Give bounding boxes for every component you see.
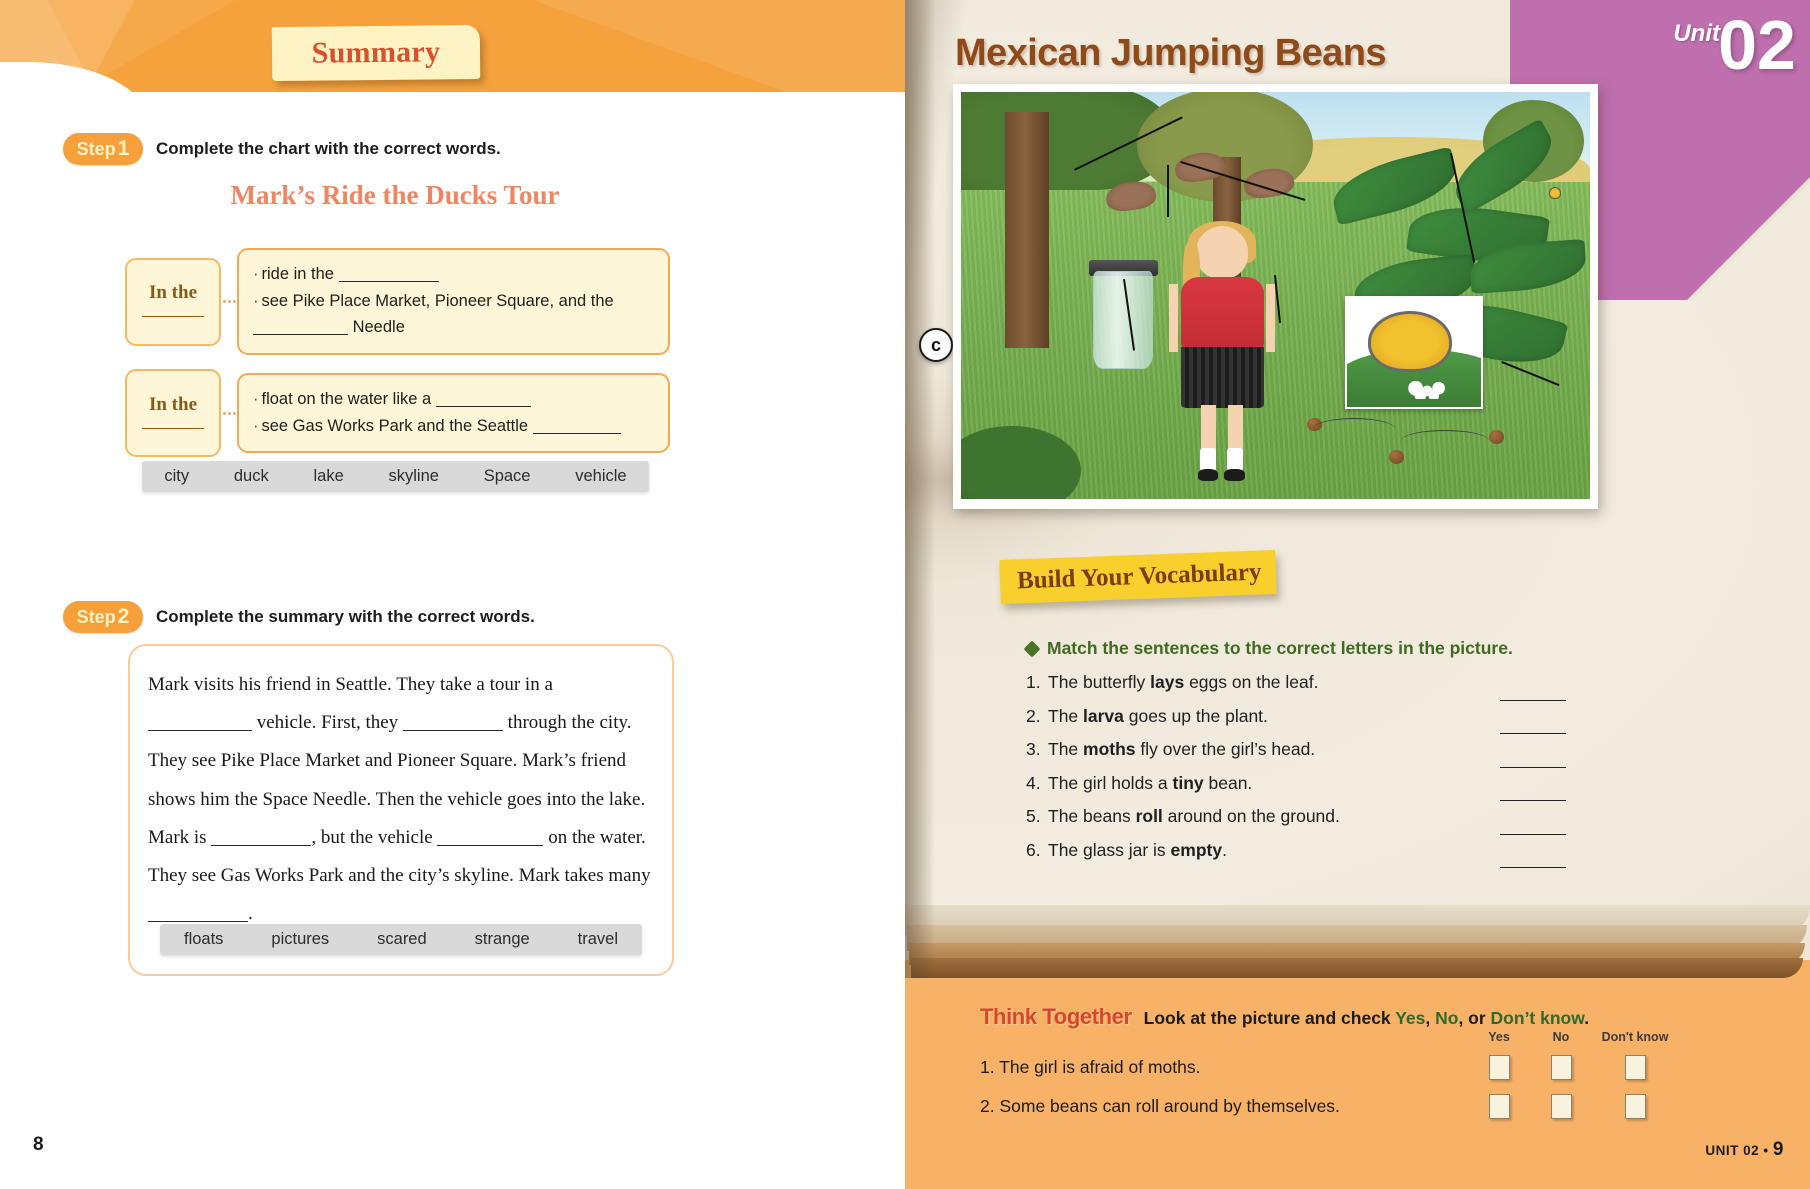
think-together-logo: Think Together	[980, 1004, 1132, 1030]
option-no-label: No	[1435, 1008, 1458, 1028]
left-page-number: 8	[33, 1134, 44, 1156]
tour-chart: In the ·ride in the ·see Pike Place Mark…	[125, 248, 670, 471]
step-2-badge-label: Step	[77, 607, 116, 628]
bullet-icon: ·	[253, 417, 259, 435]
answer-blank[interactable]	[1500, 834, 1566, 835]
eggs-icon	[1406, 381, 1454, 399]
step-1-badge-number: 1	[118, 137, 130, 161]
chart-title: Mark’s Ride the Ducks Tour	[0, 180, 790, 211]
word-bank-word[interactable]: travel	[578, 930, 618, 949]
sentence-text: The beans roll around on the ground.	[1048, 806, 1500, 827]
sentence-keyword: larva	[1083, 706, 1124, 726]
checkbox-cell-dontknow[interactable]	[1592, 1094, 1678, 1119]
footer-dot: •	[1763, 1143, 1768, 1158]
chart-item-text: see Gas Works Park and the Seattle	[262, 417, 533, 435]
chart-bullet-item: ·see Pike Place Market, Pioneer Square, …	[253, 288, 652, 341]
sentence-keyword: tiny	[1173, 773, 1204, 793]
table-row: 1. The girl is afraid of moths.	[980, 1048, 1740, 1087]
step-1-instruction: Complete the chart with the correct word…	[156, 139, 501, 159]
tree-trunk-icon	[1005, 112, 1049, 348]
chart-row-label: In the	[149, 282, 197, 304]
checkbox-no[interactable]	[1551, 1055, 1572, 1080]
sentence-number: 3.	[1026, 739, 1048, 760]
word-bank-word[interactable]: strange	[475, 930, 530, 949]
answer-blank[interactable]	[148, 730, 252, 731]
summary-tab-label: Summary	[311, 35, 440, 70]
word-bank-1: city duck lake skyline Space vehicle	[142, 461, 649, 492]
checkbox-dontknow[interactable]	[1625, 1094, 1646, 1119]
answer-blank[interactable]	[533, 433, 621, 434]
answer-blank[interactable]	[1500, 767, 1566, 768]
sentence-part: The	[1048, 706, 1083, 726]
chart-row-content: ·float on the water like a ·see Gas Work…	[237, 373, 670, 453]
step-2-badge-number: 2	[118, 605, 130, 629]
step-1-row: Step 1 Complete the chart with the corre…	[63, 133, 501, 165]
sentence-part: The	[1048, 739, 1083, 759]
answer-blank[interactable]	[339, 281, 439, 282]
checkbox-dontknow[interactable]	[1625, 1055, 1646, 1080]
sentence-part: bean.	[1204, 773, 1253, 793]
table-row: 2. Some beans can roll around by themsel…	[980, 1087, 1740, 1126]
sentence-part: around on the ground.	[1163, 806, 1340, 826]
chart-bullet-item: ·ride in the	[253, 261, 652, 288]
answer-blank[interactable]	[437, 845, 543, 846]
chart-bullet-item: ·float on the water like a	[253, 386, 652, 413]
left-page: Summary Step 1 Complete the chart with t…	[0, 0, 905, 1189]
checkbox-cell-no[interactable]	[1530, 1094, 1592, 1119]
question-text: 1. The girl is afraid of moths.	[980, 1057, 1468, 1078]
period: .	[1584, 1008, 1589, 1028]
step-2-badge: Step 2	[63, 601, 143, 633]
summary-tab: Summary	[272, 25, 481, 81]
word-bank-word[interactable]: skyline	[389, 467, 439, 486]
bean-icon	[1489, 430, 1504, 444]
answer-blank[interactable]	[253, 334, 348, 335]
spine-shadow	[905, 0, 935, 978]
word-bank-word[interactable]: duck	[234, 467, 269, 486]
step-2-row: Step 2 Complete the summary with the cor…	[63, 601, 535, 633]
summary-paragraph: Mark visits his friend in Seattle. They …	[148, 666, 656, 933]
sentence-part: eggs on the leaf.	[1184, 672, 1318, 692]
checkbox-cell-yes[interactable]	[1468, 1094, 1530, 1119]
answer-blank[interactable]	[148, 921, 248, 922]
right-page-footer: UNIT 02 • 9	[1705, 1139, 1784, 1161]
chart-item-text: ride in the	[262, 265, 339, 283]
sentence-keyword: roll	[1136, 806, 1163, 826]
list-item: 2. The larva goes up the plant.	[1026, 706, 1566, 740]
step-1-badge: Step 1	[63, 133, 143, 165]
sentence-part: fly over the girl’s head.	[1136, 739, 1316, 759]
answer-blank[interactable]	[436, 406, 531, 407]
answer-blank[interactable]	[403, 730, 503, 731]
build-vocabulary-label: Build Your Vocabulary	[1017, 558, 1262, 595]
bullet-icon: ·	[253, 292, 259, 310]
think-together-instruction: Look at the picture and check Yes, No, o…	[1144, 1008, 1589, 1029]
step-2-instruction: Complete the summary with the correct wo…	[156, 607, 535, 627]
chart-row: In the ·ride in the ·see Pike Place Mark…	[125, 248, 670, 355]
sentence-part: .	[1222, 840, 1227, 860]
sentence-number: 1.	[1026, 672, 1048, 693]
checkbox-cell-yes[interactable]	[1468, 1055, 1530, 1080]
arm-icon	[1169, 284, 1177, 352]
match-sentences-list: 1. The butterfly lays eggs on the leaf. …	[1026, 672, 1566, 873]
illustration	[961, 92, 1590, 499]
checkbox-yes[interactable]	[1489, 1094, 1510, 1119]
bean-icon	[1389, 450, 1404, 464]
chart-row-content: ·ride in the ·see Pike Place Market, Pio…	[237, 248, 670, 355]
diamond-bullet-icon	[1024, 640, 1041, 657]
bean-motion-arc	[1401, 430, 1489, 452]
list-item: 5. The beans roll around on the ground.	[1026, 806, 1566, 840]
unit-label: Unit	[1673, 20, 1720, 48]
shirt-icon	[1181, 277, 1264, 353]
head-icon	[1196, 226, 1249, 279]
think-together-column-headers: Yes No Don't know	[1468, 1030, 1738, 1044]
think-together-header: Think Together Look at the picture and c…	[980, 1004, 1589, 1030]
bullet-icon: ·	[253, 265, 259, 283]
skirt-icon	[1181, 347, 1264, 408]
sentence-text: The butterfly lays eggs on the leaf.	[1048, 672, 1500, 693]
sentence-text: The moths fly over the girl’s head.	[1048, 739, 1500, 760]
summary-exercise-box: Mark visits his friend in Seattle. They …	[128, 644, 674, 976]
illustration-frame	[953, 84, 1598, 509]
word-bank-word[interactable]: city	[164, 467, 189, 486]
checkbox-group	[1468, 1055, 1678, 1080]
sentence-text: The larva goes up the plant.	[1048, 706, 1500, 727]
option-yes-label: Yes	[1395, 1008, 1425, 1028]
bullet-icon: ·	[253, 390, 259, 408]
sentence-keyword: moths	[1083, 739, 1136, 759]
question-text: 2. Some beans can roll around by themsel…	[980, 1096, 1468, 1117]
checkbox-cell-dontknow[interactable]	[1592, 1055, 1678, 1080]
butterfly-icon	[1368, 311, 1451, 373]
answer-blank[interactable]	[1500, 800, 1566, 801]
chart-bullet-item: ·see Gas Works Park and the Seattle	[253, 413, 652, 440]
checkbox-yes[interactable]	[1489, 1055, 1510, 1080]
step-1-badge-label: Step	[77, 139, 116, 160]
glass-jar-icon	[1093, 271, 1153, 369]
list-item: 6. The glass jar is empty.	[1026, 840, 1566, 874]
shoe-icon	[1224, 469, 1245, 482]
sentence-number: 6.	[1026, 840, 1048, 861]
sentence-keyword: empty	[1171, 840, 1223, 860]
match-instruction-row: Match the sentences to the correct lette…	[1026, 638, 1513, 659]
chart-row-label: In the	[149, 394, 197, 416]
answer-blank[interactable]	[1500, 700, 1566, 701]
chart-item-text: float on the water like a	[262, 390, 436, 408]
column-header-yes: Yes	[1468, 1030, 1530, 1044]
word-bank-word[interactable]: lake	[313, 467, 343, 486]
list-item: 3. The moths fly over the girl’s head.	[1026, 739, 1566, 773]
butterfly-icon	[1549, 187, 1561, 199]
checkbox-group	[1468, 1094, 1678, 1119]
chart-row-label-box[interactable]: In the	[125, 258, 221, 346]
chart-item-text-post: Needle	[348, 318, 405, 336]
word-bank-word[interactable]: pictures	[271, 930, 329, 949]
answer-blank[interactable]	[1500, 867, 1566, 868]
shoe-icon	[1198, 469, 1219, 482]
page-title: Mexican Jumping Beans	[955, 32, 1386, 75]
chart-item-text: see Pike Place Market, Pioneer Square, a…	[262, 292, 614, 310]
sentence-part: The beans	[1048, 806, 1136, 826]
sentence-number: 5.	[1026, 806, 1048, 827]
connector-dots	[221, 300, 237, 303]
callout-leader-line	[1167, 165, 1169, 217]
right-page-number: 9	[1773, 1139, 1784, 1160]
chart-row-label-box[interactable]: In the	[125, 369, 221, 457]
page-edge-layer	[911, 958, 1803, 978]
sentence-text: The girl holds a tiny bean.	[1048, 773, 1500, 794]
answer-blank[interactable]	[211, 845, 311, 846]
sentence-part: The butterfly	[1048, 672, 1150, 692]
word-bank-word[interactable]: floats	[184, 930, 223, 949]
sock-icon	[1227, 448, 1243, 471]
sentence-part: The glass jar is	[1048, 840, 1171, 860]
sentence-number: 2.	[1026, 706, 1048, 727]
sentence-text: The glass jar is empty.	[1048, 840, 1500, 861]
answer-blank[interactable]	[1500, 733, 1566, 734]
word-bank-2: floats pictures scared strange travel	[160, 924, 642, 955]
sentence-part: The girl holds a	[1048, 773, 1173, 793]
word-bank-word[interactable]: scared	[377, 930, 427, 949]
separator: ,	[1425, 1008, 1435, 1028]
arm-icon	[1266, 284, 1274, 352]
girl-figure	[1175, 226, 1269, 478]
footer-unit-label: UNIT 02	[1705, 1143, 1759, 1158]
column-header-no: No	[1530, 1030, 1592, 1044]
chart-row-label-blank[interactable]	[142, 428, 204, 429]
match-instruction: Match the sentences to the correct lette…	[1047, 638, 1513, 659]
callout-c[interactable]: c	[919, 328, 953, 362]
inset-photo	[1345, 296, 1483, 410]
column-header-dontknow: Don't know	[1592, 1030, 1678, 1044]
connector-dots	[221, 412, 237, 415]
bean-motion-arc	[1313, 418, 1395, 440]
sock-icon	[1200, 448, 1216, 471]
sentence-number: 4.	[1026, 773, 1048, 794]
chart-row: In the ·float on the water like a ·see G…	[125, 369, 670, 457]
unit-number: 02	[1718, 10, 1796, 80]
instruction-part: Look at the picture and check	[1144, 1008, 1396, 1028]
word-bank-word[interactable]: Space	[484, 467, 531, 486]
list-item: 1. The butterfly lays eggs on the leaf.	[1026, 672, 1566, 706]
checkbox-cell-no[interactable]	[1530, 1055, 1592, 1080]
chart-row-label-blank[interactable]	[142, 316, 204, 317]
sentence-part: goes up the plant.	[1124, 706, 1268, 726]
list-item: 4. The girl holds a tiny bean.	[1026, 773, 1566, 807]
separator: , or	[1458, 1008, 1490, 1028]
word-bank-word[interactable]: vehicle	[575, 467, 626, 486]
checkbox-no[interactable]	[1551, 1094, 1572, 1119]
option-dontknow-label: Don’t know	[1491, 1008, 1585, 1028]
sentence-keyword: lays	[1150, 672, 1184, 692]
think-together-rows: 1. The girl is afraid of moths. 2. Some …	[980, 1048, 1740, 1126]
